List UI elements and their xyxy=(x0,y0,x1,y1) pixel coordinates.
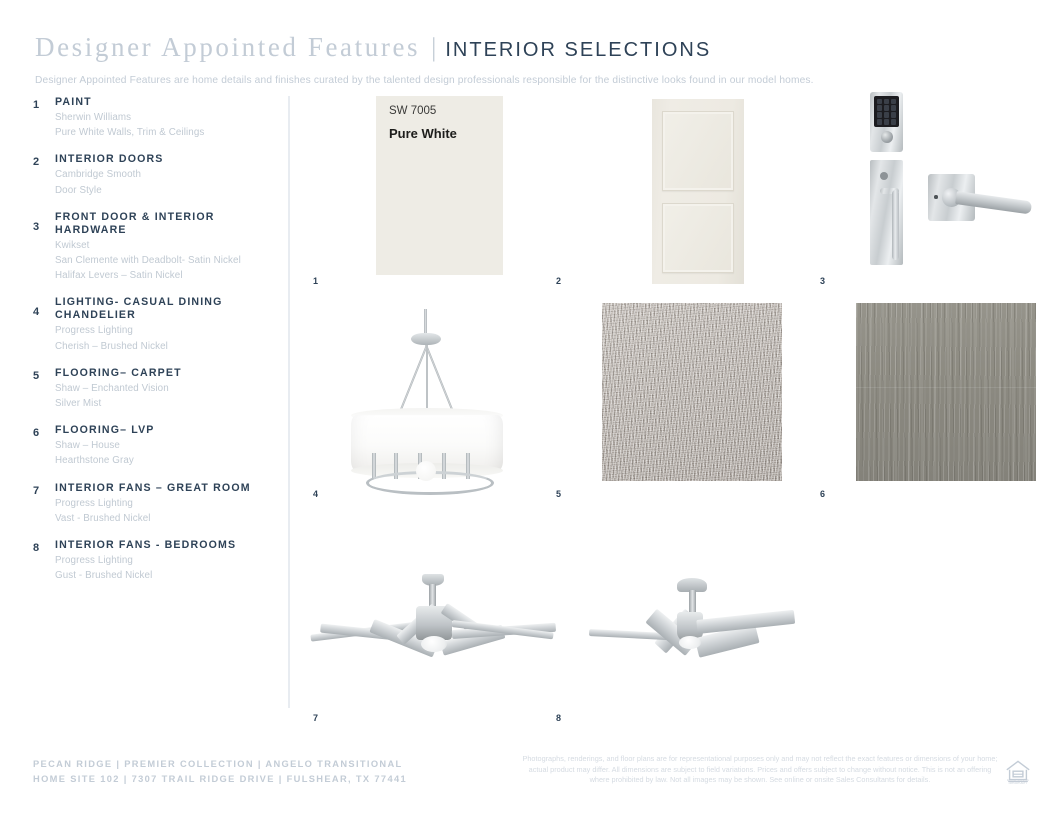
paint-swatch-code: SW 7005 xyxy=(389,105,436,117)
bedroom-fan-image xyxy=(583,572,801,680)
great-room-fan-image xyxy=(312,572,560,680)
paint-swatch-name: Pure White xyxy=(389,126,457,141)
fan-light-kit xyxy=(679,636,701,649)
footer-community-line-1: PECAN RIDGE | PREMIER COLLECTION | ANGEL… xyxy=(33,757,407,772)
interior-door-image xyxy=(652,99,744,284)
footer-community-info: PECAN RIDGE | PREMIER COLLECTION | ANGEL… xyxy=(33,757,407,787)
footer-community-line-2: HOME SITE 102 | 7307 TRAIL RIDGE DRIVE |… xyxy=(33,772,407,787)
door-panel-bottom xyxy=(662,203,734,273)
image-label-2: 2 xyxy=(556,276,561,286)
lvp-swatch-image xyxy=(856,303,1036,481)
chandelier-canopy xyxy=(411,333,441,345)
product-image-grid: SW 7005 Pure White 1 2 3 xyxy=(0,0,1055,815)
chandelier-bulb xyxy=(416,461,436,481)
equal-housing-label: EQUAL HOUSING OPPORTUNITY xyxy=(1001,779,1035,786)
image-label-7: 7 xyxy=(313,713,318,723)
deadbolt-cylinder xyxy=(881,131,893,143)
paint-swatch-image xyxy=(376,96,503,275)
image-label-4: 4 xyxy=(313,489,318,499)
chandelier-post xyxy=(372,453,376,479)
image-label-5: 5 xyxy=(556,489,561,499)
footer-disclaimer: Photographs, renderings, and floor plans… xyxy=(520,754,1000,786)
image-label-6: 6 xyxy=(820,489,825,499)
image-label-8: 8 xyxy=(556,713,561,723)
chandelier-image xyxy=(326,303,526,483)
lever-privacy-pin xyxy=(934,195,938,199)
keypad-screen xyxy=(874,96,899,127)
door-panel-top xyxy=(662,111,734,191)
chandelier-wire-left xyxy=(425,345,455,416)
fan-downrod xyxy=(689,590,696,614)
image-label-3: 3 xyxy=(820,276,825,286)
carpet-swatch-image xyxy=(602,303,782,481)
door-hardware-image xyxy=(860,92,1035,267)
handleset-grip xyxy=(892,190,899,260)
handleset-keyhole xyxy=(880,172,888,180)
fan-light-kit xyxy=(421,636,447,652)
image-label-1: 1 xyxy=(313,276,318,286)
chandelier-wire-right xyxy=(398,345,428,416)
